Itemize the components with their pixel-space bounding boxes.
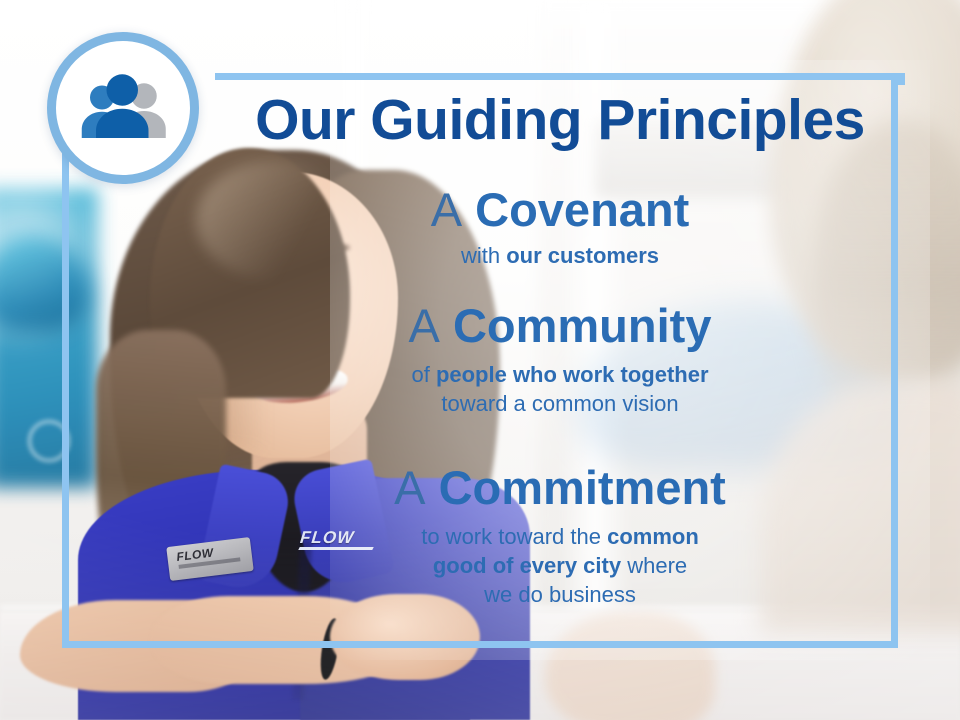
- principle-covenant-lead: A: [431, 183, 462, 236]
- photo-person-right-hand: [545, 612, 715, 720]
- guiding-principles-graphic: FLOW FLOW Our Guiding Principles: [0, 0, 960, 720]
- principle-commitment: A Commitment to work toward the commongo…: [250, 464, 870, 609]
- principle-covenant: A Covenant with our customers: [250, 186, 870, 270]
- principle-covenant-word: Covenant: [475, 183, 689, 236]
- principle-community-word: Community: [453, 299, 712, 352]
- page-title: Our Guiding Principles: [215, 92, 905, 149]
- people-group-badge: [47, 32, 199, 184]
- text-line: toward a common vision: [250, 389, 870, 418]
- text-line: of people who work together: [250, 360, 870, 389]
- principle-covenant-sub: with our customers: [250, 241, 870, 270]
- text-line: to work toward the common: [250, 522, 870, 551]
- principle-community-sub: of people who work togethertoward a comm…: [250, 360, 870, 418]
- principle-commitment-lead: A: [394, 461, 425, 514]
- photo-sign-emblem: [28, 420, 70, 462]
- principle-covenant-heading: A Covenant: [250, 186, 870, 234]
- principle-community-heading: A Community: [250, 302, 870, 350]
- principle-commitment-word: Commitment: [439, 461, 726, 514]
- decorative-frame-top-cap: [898, 73, 905, 85]
- principle-commitment-heading: A Commitment: [250, 464, 870, 512]
- principle-community: A Community of people who work togethert…: [250, 302, 870, 418]
- people-group-icon: [75, 72, 171, 144]
- principle-commitment-sub: to work toward the commongood of every c…: [250, 522, 870, 609]
- principle-community-lead: A: [409, 299, 440, 352]
- decorative-frame-top-bar: [215, 73, 905, 80]
- text-line: good of every city where: [250, 551, 870, 580]
- text-line: we do business: [250, 580, 870, 609]
- text-line: with our customers: [250, 241, 870, 270]
